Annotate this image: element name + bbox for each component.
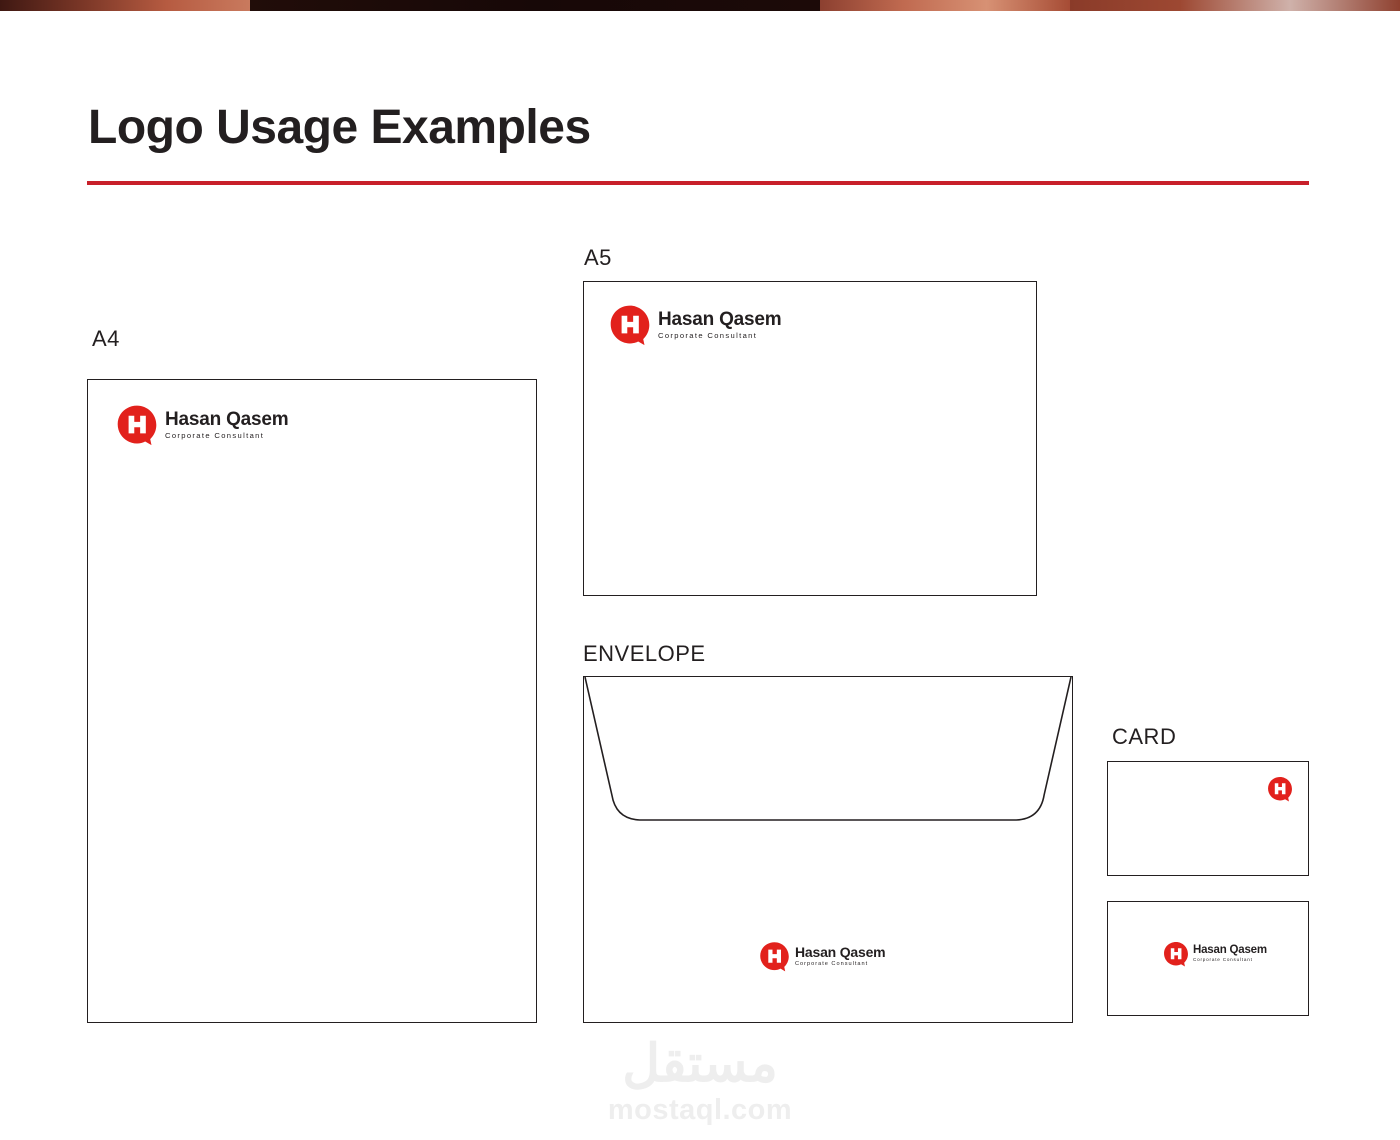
mockup-card-front[interactable]: Hasan Qasem Corporate Consultant — [1107, 761, 1309, 876]
label-card: CARD — [1112, 724, 1176, 750]
logo-lockup-envelope: Hasan Qasem Corporate Consultant — [759, 941, 885, 972]
label-a5: A5 — [584, 245, 612, 271]
logo-mark-card-front: Hasan Qasem Corporate Consultant — [1267, 776, 1293, 802]
logo-lockup-a5: Hasan Qasem Corporate Consultant — [609, 304, 781, 346]
label-envelope: ENVELOPE — [583, 641, 706, 667]
brand-tagline: Corporate Consultant — [1193, 958, 1267, 963]
mockup-envelope[interactable]: Hasan Qasem Corporate Consultant — [583, 676, 1073, 1023]
brand-tagline: Corporate Consultant — [658, 332, 781, 340]
logo-wordmark-a4: Hasan Qasem Corporate Consultant — [165, 410, 288, 440]
brand-tagline: Corporate Consultant — [165, 432, 288, 440]
hasan-qasem-mark-icon — [609, 304, 651, 346]
mostaql-watermark: مستقل mostaql.com — [0, 1038, 1400, 1125]
page-title: Logo Usage Examples — [88, 102, 591, 155]
hasan-qasem-mark-icon — [1163, 941, 1189, 967]
logo-wordmark-card-back: Hasan Qasem Corporate Consultant — [1193, 945, 1267, 963]
hasan-qasem-mark-icon — [1267, 776, 1293, 802]
brand-name: Hasan Qasem — [1193, 945, 1267, 957]
brand-name: Hasan Qasem — [795, 945, 885, 959]
hasan-qasem-mark-icon — [759, 941, 790, 972]
brand-name: Hasan Qasem — [165, 410, 288, 429]
mockup-card-back[interactable]: Hasan Qasem Corporate Consultant — [1107, 901, 1309, 1016]
mockup-a5-sheet[interactable]: Hasan Qasem Corporate Consultant — [583, 281, 1037, 596]
logo-lockup-card-back: Hasan Qasem Corporate Consultant — [1163, 941, 1267, 967]
logo-wordmark-envelope: Hasan Qasem Corporate Consultant — [795, 945, 885, 967]
title-underline-rule — [87, 181, 1309, 185]
brand-name: Hasan Qasem — [658, 310, 781, 329]
logo-wordmark-a5: Hasan Qasem Corporate Consultant — [658, 310, 781, 340]
mockup-a4-sheet[interactable]: Hasan Qasem Corporate Consultant — [87, 379, 537, 1023]
hasan-qasem-mark-icon — [116, 404, 158, 446]
label-a4: A4 — [92, 326, 120, 352]
envelope-flap — [584, 677, 1072, 829]
watermark-arabic-text: مستقل — [0, 1038, 1400, 1090]
slide-canvas: Logo Usage Examples A4 Hasan Qasem Corpo… — [0, 0, 1400, 1140]
top-image-strip — [0, 0, 1400, 11]
brand-tagline: Corporate Consultant — [795, 962, 885, 968]
watermark-latin-text: mostaql.com — [0, 1096, 1400, 1125]
logo-lockup-a4: Hasan Qasem Corporate Consultant — [116, 404, 288, 446]
